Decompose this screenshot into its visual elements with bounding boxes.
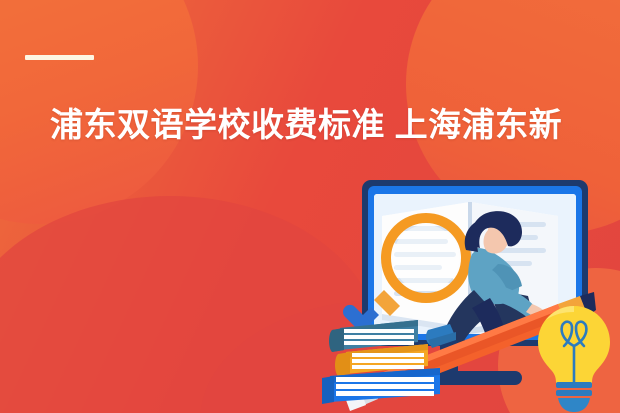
online-learning-illustration xyxy=(322,168,620,413)
title-accent-rule xyxy=(25,55,94,60)
banner-title: 浦东双语学校收费标准 上海浦东新 xyxy=(50,104,590,146)
article-cover-banner: 浦东双语学校收费标准 上海浦东新 xyxy=(0,0,620,413)
lightbulb-icon xyxy=(538,306,610,412)
